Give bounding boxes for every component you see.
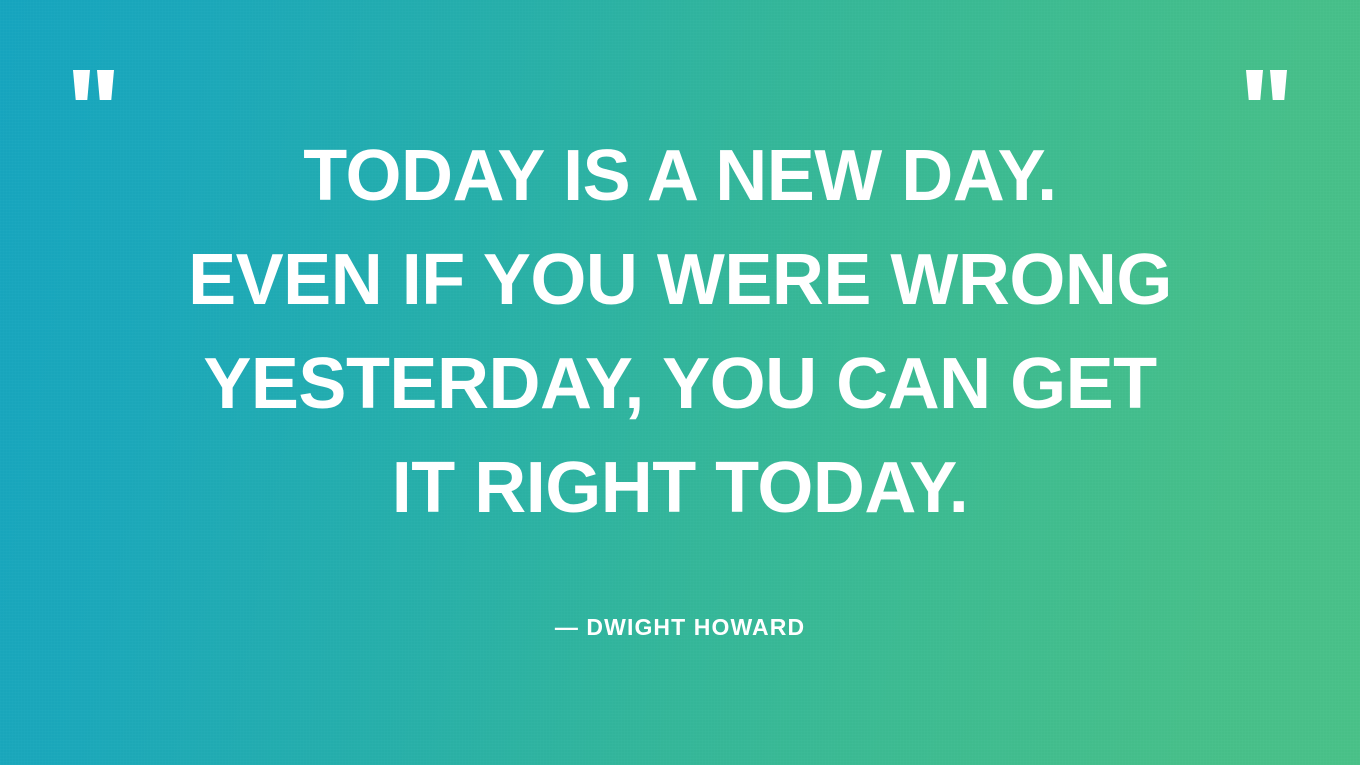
quote-content: Today is a new day. Even if you were wro… xyxy=(0,0,1360,765)
quote-line: yesterday, you can get xyxy=(188,332,1172,436)
quote-attribution: — Dwight Howard xyxy=(555,540,805,641)
quote-line: Even if you were wrong xyxy=(188,228,1172,332)
quote-text: Today is a new day. Even if you were wro… xyxy=(128,124,1232,540)
quote-card: Today is a new day. Even if you were wro… xyxy=(0,0,1360,765)
quote-line: Today is a new day. xyxy=(188,124,1172,228)
quote-line: it right today. xyxy=(188,436,1172,540)
